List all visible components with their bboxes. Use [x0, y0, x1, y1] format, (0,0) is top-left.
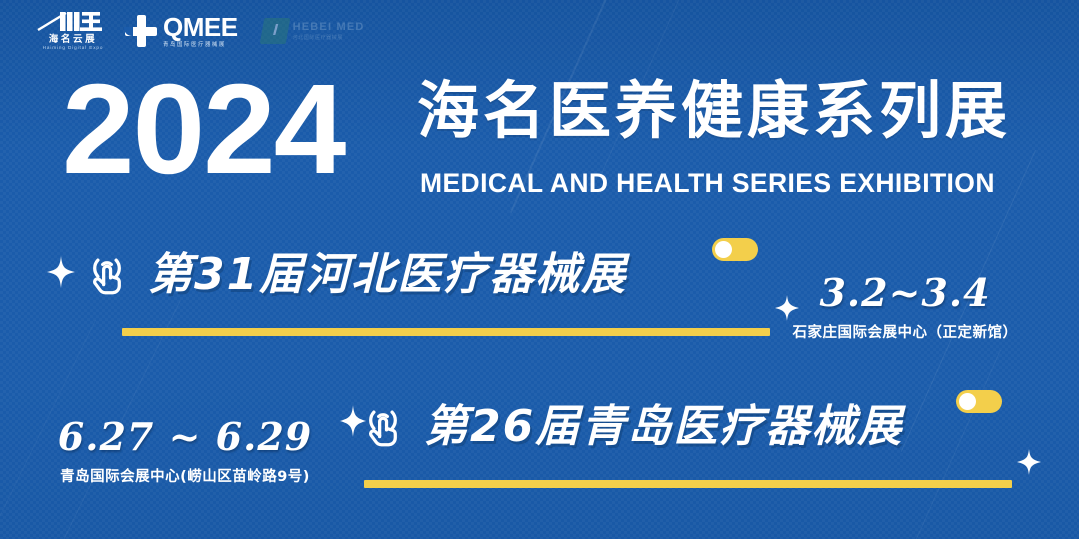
logo-qmee-wordmark: QMEE — [163, 14, 238, 40]
event-date-block-hebei: 3.2~3.4 石家庄国际会展中心（正定新馆） — [765, 274, 1045, 342]
hebei-med-icon: I — [259, 18, 290, 44]
exhibition-poster: 海名云展 Haiming Digital Expo QMEE 青岛国际医疗器械展… — [0, 0, 1079, 539]
logo-hebei-med: I HEBEI MED 河北国际医疗器械展 — [262, 18, 365, 44]
haiming-monogram-icon — [36, 11, 110, 33]
event-block-hebei: 第31届河北医疗器械展 — [44, 252, 627, 303]
toggle-knob — [959, 393, 976, 410]
logo-hebei-sub: 河北国际医疗器械展 — [293, 36, 365, 41]
event-underline-hebei — [122, 328, 770, 336]
logo-haiming-en: Haiming Digital Expo — [43, 46, 104, 50]
logo-hebei-title: HEBEI MED — [293, 22, 365, 33]
tap-hand-icon[interactable] — [84, 252, 130, 298]
medical-cross-icon — [124, 14, 158, 48]
logo-bar: 海名云展 Haiming Digital Expo QMEE 青岛国际医疗器械展… — [36, 8, 365, 54]
event-block-qingdao: 第26届青岛医疗器械展 — [360, 404, 903, 455]
toggle-pill-qingdao — [956, 390, 1002, 413]
logo-haiming: 海名云展 Haiming Digital Expo — [36, 11, 110, 51]
toggle-knob — [715, 241, 732, 258]
event-venue-qingdao: 青岛国际会展中心(崂山区苗岭路9号) — [30, 465, 340, 486]
event-venue-hebei: 石家庄国际会展中心（正定新馆） — [765, 321, 1045, 342]
page-title-cn: 海名医养健康系列展 — [417, 80, 1011, 142]
event-name-hebei: 第31届河北医疗器械展 — [148, 253, 627, 297]
event-date-hebei: 3.2~3.4 — [765, 274, 1045, 312]
event-date-qingdao: 6.27 ~ 6.29 — [30, 418, 340, 456]
logo-qmee: QMEE 青岛国际医疗器械展 — [124, 14, 238, 48]
event-underline-qingdao — [364, 480, 1012, 488]
toggle-pill-hebei — [712, 238, 758, 261]
logo-haiming-cn: 海名云展 — [49, 35, 97, 45]
decorative-streak — [911, 350, 1001, 539]
event-date-block-qingdao: 6.27 ~ 6.29 青岛国际会展中心(崂山区苗岭路9号) — [30, 418, 340, 486]
event-name-qingdao: 第26届青岛医疗器械展 — [424, 405, 903, 449]
logo-qmee-sub: 青岛国际医疗器械展 — [163, 43, 238, 48]
sparkle-icon — [44, 254, 78, 294]
masthead: 2024 海名医养健康系列展 MEDICAL AND HEALTH SERIES… — [62, 72, 1052, 202]
tap-hand-icon[interactable] — [360, 404, 406, 450]
sparkle-icon — [1016, 448, 1042, 478]
hebei-mark-letter: I — [272, 22, 278, 40]
year-2024: 2024 — [62, 66, 344, 194]
page-title-en: MEDICAL AND HEALTH SERIES EXHIBITION — [420, 168, 995, 199]
